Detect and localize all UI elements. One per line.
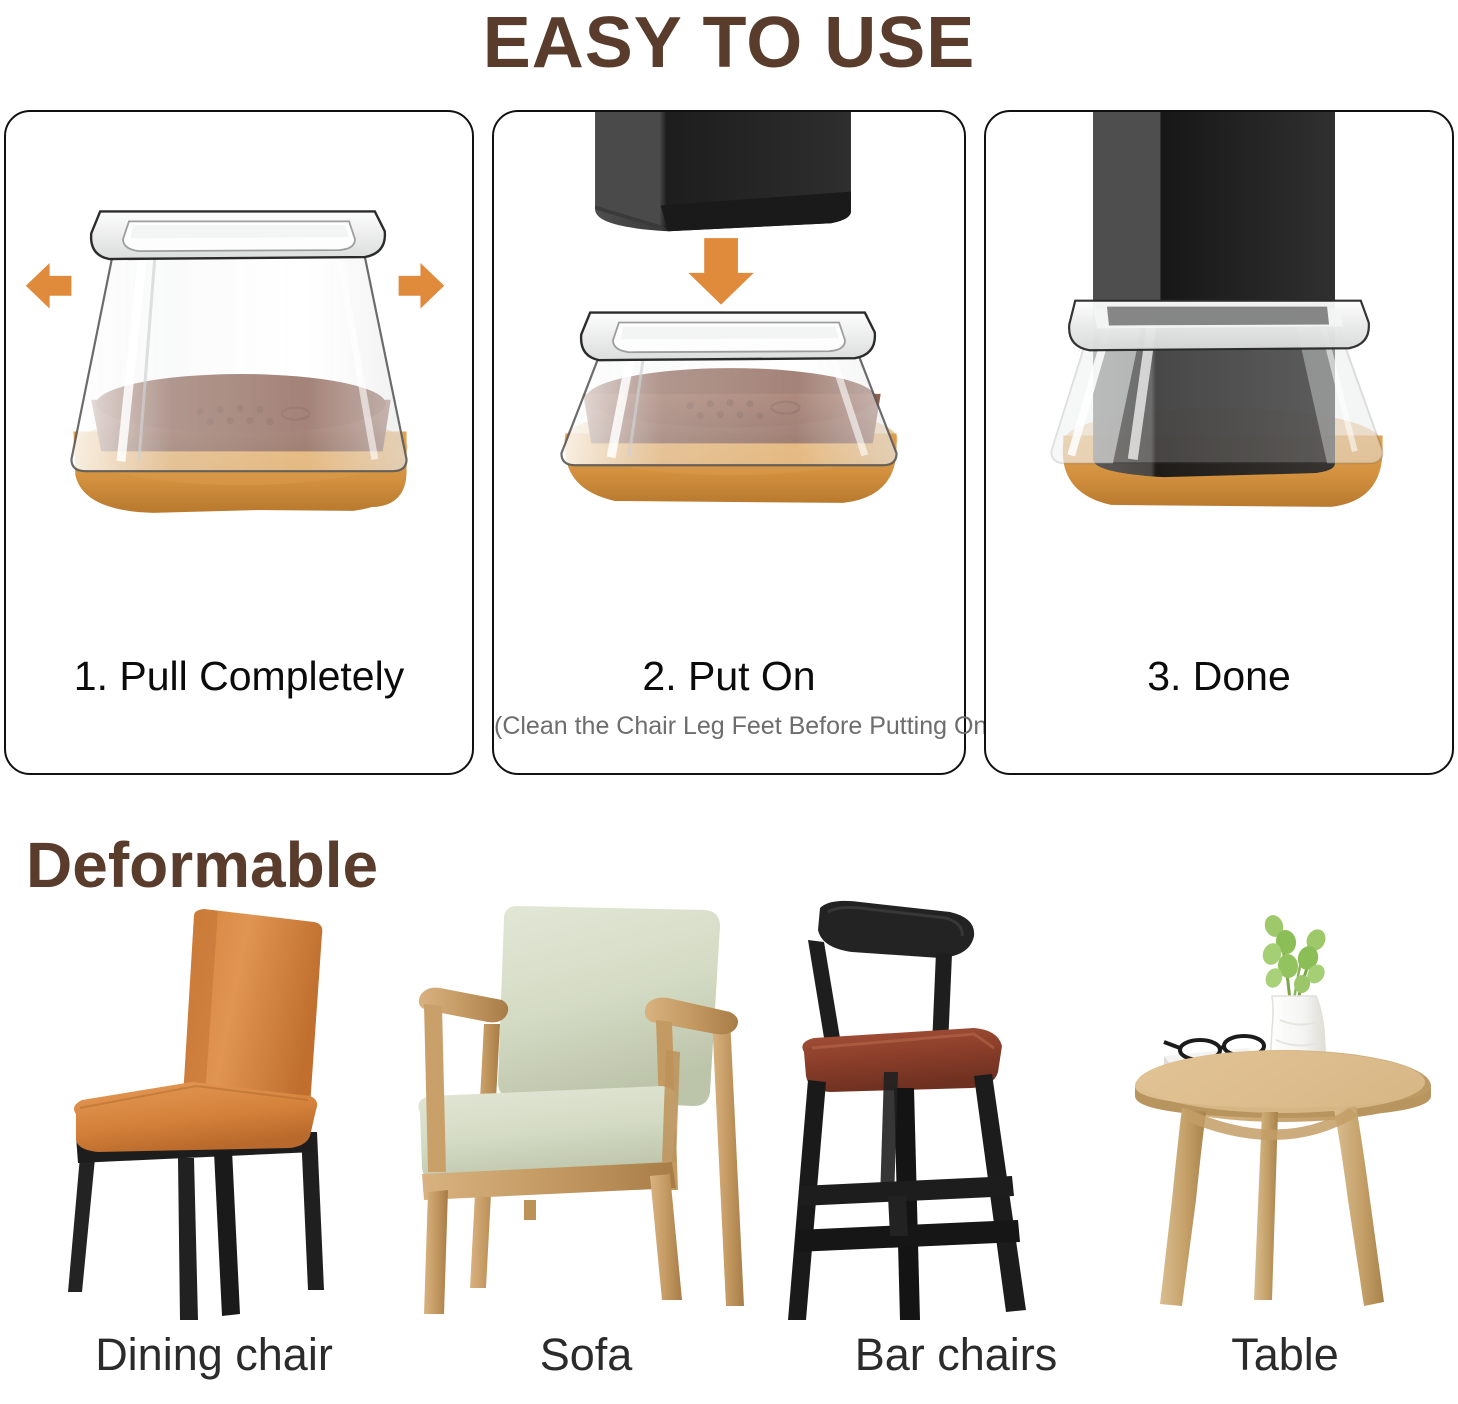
chair-leg xyxy=(1093,112,1335,313)
table-leg xyxy=(1334,1106,1384,1306)
step-2-illustration xyxy=(494,112,964,642)
sofa-image xyxy=(400,900,772,1320)
pull-arrow-left xyxy=(26,263,72,309)
gallery-item-dining-chair: Dining chair xyxy=(18,900,410,1404)
step-panel-1: 1. Pull Completely xyxy=(4,110,474,775)
section-title-deformable: Deformable xyxy=(26,828,378,902)
round-table-image xyxy=(1120,900,1450,1320)
put-on-arrow-down xyxy=(688,238,753,304)
stool-seat xyxy=(802,1028,1002,1092)
step-2-caption: 2. Put On xyxy=(494,648,964,704)
step-2-subcaption: (Clean the Chair Leg Feet Before Putting… xyxy=(494,710,964,742)
table-leg xyxy=(1160,1108,1206,1306)
step-panel-2: 2. Put On (Clean the Chair Leg Feet Befo… xyxy=(492,110,966,775)
gallery-label-table: Table xyxy=(1120,1324,1450,1386)
gallery-item-table: Table xyxy=(1120,900,1450,1404)
gallery-item-bar-chairs: Bar chairs xyxy=(768,900,1144,1404)
gallery-item-sofa: Sofa xyxy=(400,900,772,1404)
product-infographic: EASY TO USE xyxy=(0,0,1458,1404)
bar-stool-image xyxy=(768,900,1144,1320)
step-1-caption: 1. Pull Completely xyxy=(6,648,472,704)
page-title: EASY TO USE xyxy=(0,2,1458,84)
furniture-gallery: Dining chair xyxy=(0,900,1458,1404)
pull-arrow-right xyxy=(399,263,445,309)
gallery-label-sofa: Sofa xyxy=(400,1324,772,1386)
gallery-label-dining-chair: Dining chair xyxy=(18,1324,410,1386)
step-3-illustration xyxy=(986,112,1452,642)
gallery-label-bar-chairs: Bar chairs xyxy=(768,1324,1144,1386)
step-1-illustration xyxy=(6,112,472,642)
steps-row: 1. Pull Completely xyxy=(4,110,1454,775)
table-leg xyxy=(1254,1112,1278,1300)
chair-leg xyxy=(595,112,851,231)
step-3-caption: 3. Done xyxy=(986,648,1452,704)
plant xyxy=(1260,913,1329,1000)
dining-chair-image xyxy=(18,900,410,1320)
step-panel-3: 3. Done xyxy=(984,110,1454,775)
